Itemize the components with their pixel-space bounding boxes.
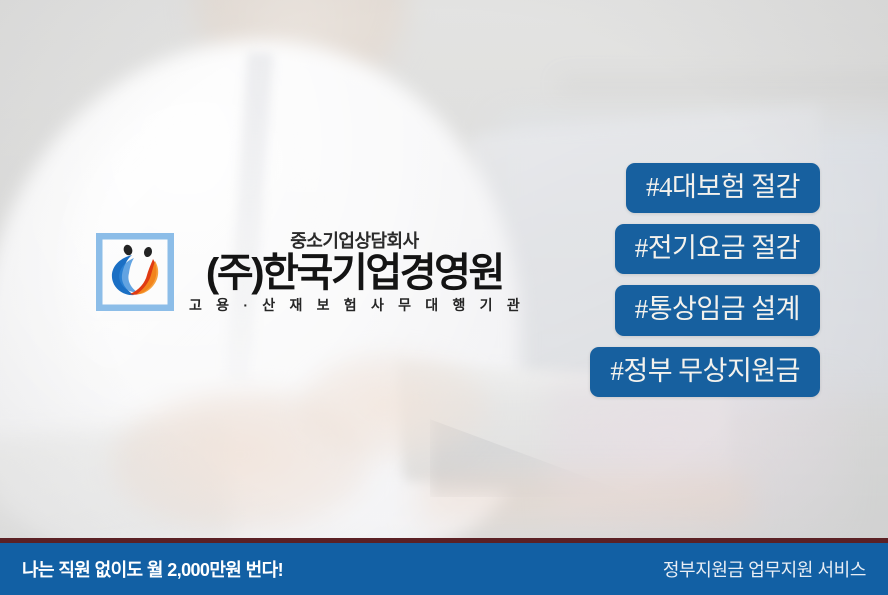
hashtag-button-정부-무상지원금[interactable]: #정부 무상지원금 (590, 347, 820, 397)
company-logo: 중소기업상담회사 (주)한국기업경영원 고 용 · 산 재 보 험 사 무 대 … (96, 232, 525, 312)
logo-subtitle: 중소기업상담회사 (290, 232, 418, 250)
hashtag-button-전기요금-절감[interactable]: #전기요금 절감 (615, 224, 820, 274)
logo-tagline: 고 용 · 산 재 보 험 사 무 대 행 기 관 (189, 298, 525, 312)
footer-service-label: 정부지원금 업무지원 서비스 (663, 556, 866, 582)
footer-headline: 나는 직원 없이도 월 2,000만원 번다! (22, 556, 283, 582)
footer-bar: 나는 직원 없이도 월 2,000만원 번다! 정부지원금 업무지원 서비스 (0, 543, 888, 595)
hashtag-list: #4대보험 절감 #전기요금 절감 #통상임금 설계 #정부 무상지원금 (590, 163, 820, 397)
promo-banner: 중소기업상담회사 (주)한국기업경영원 고 용 · 산 재 보 험 사 무 대 … (0, 0, 888, 595)
hashtag-button-통상임금-설계[interactable]: #통상임금 설계 (615, 285, 820, 335)
two-people-heart-logo-icon (96, 233, 174, 311)
logo-wordmark: 중소기업상담회사 (주)한국기업경영원 고 용 · 산 재 보 험 사 무 대 … (184, 232, 525, 312)
hashtag-button-4대보험-절감[interactable]: #4대보험 절감 (626, 163, 820, 213)
logo-company-name: (주)한국기업경영원 (206, 253, 503, 294)
